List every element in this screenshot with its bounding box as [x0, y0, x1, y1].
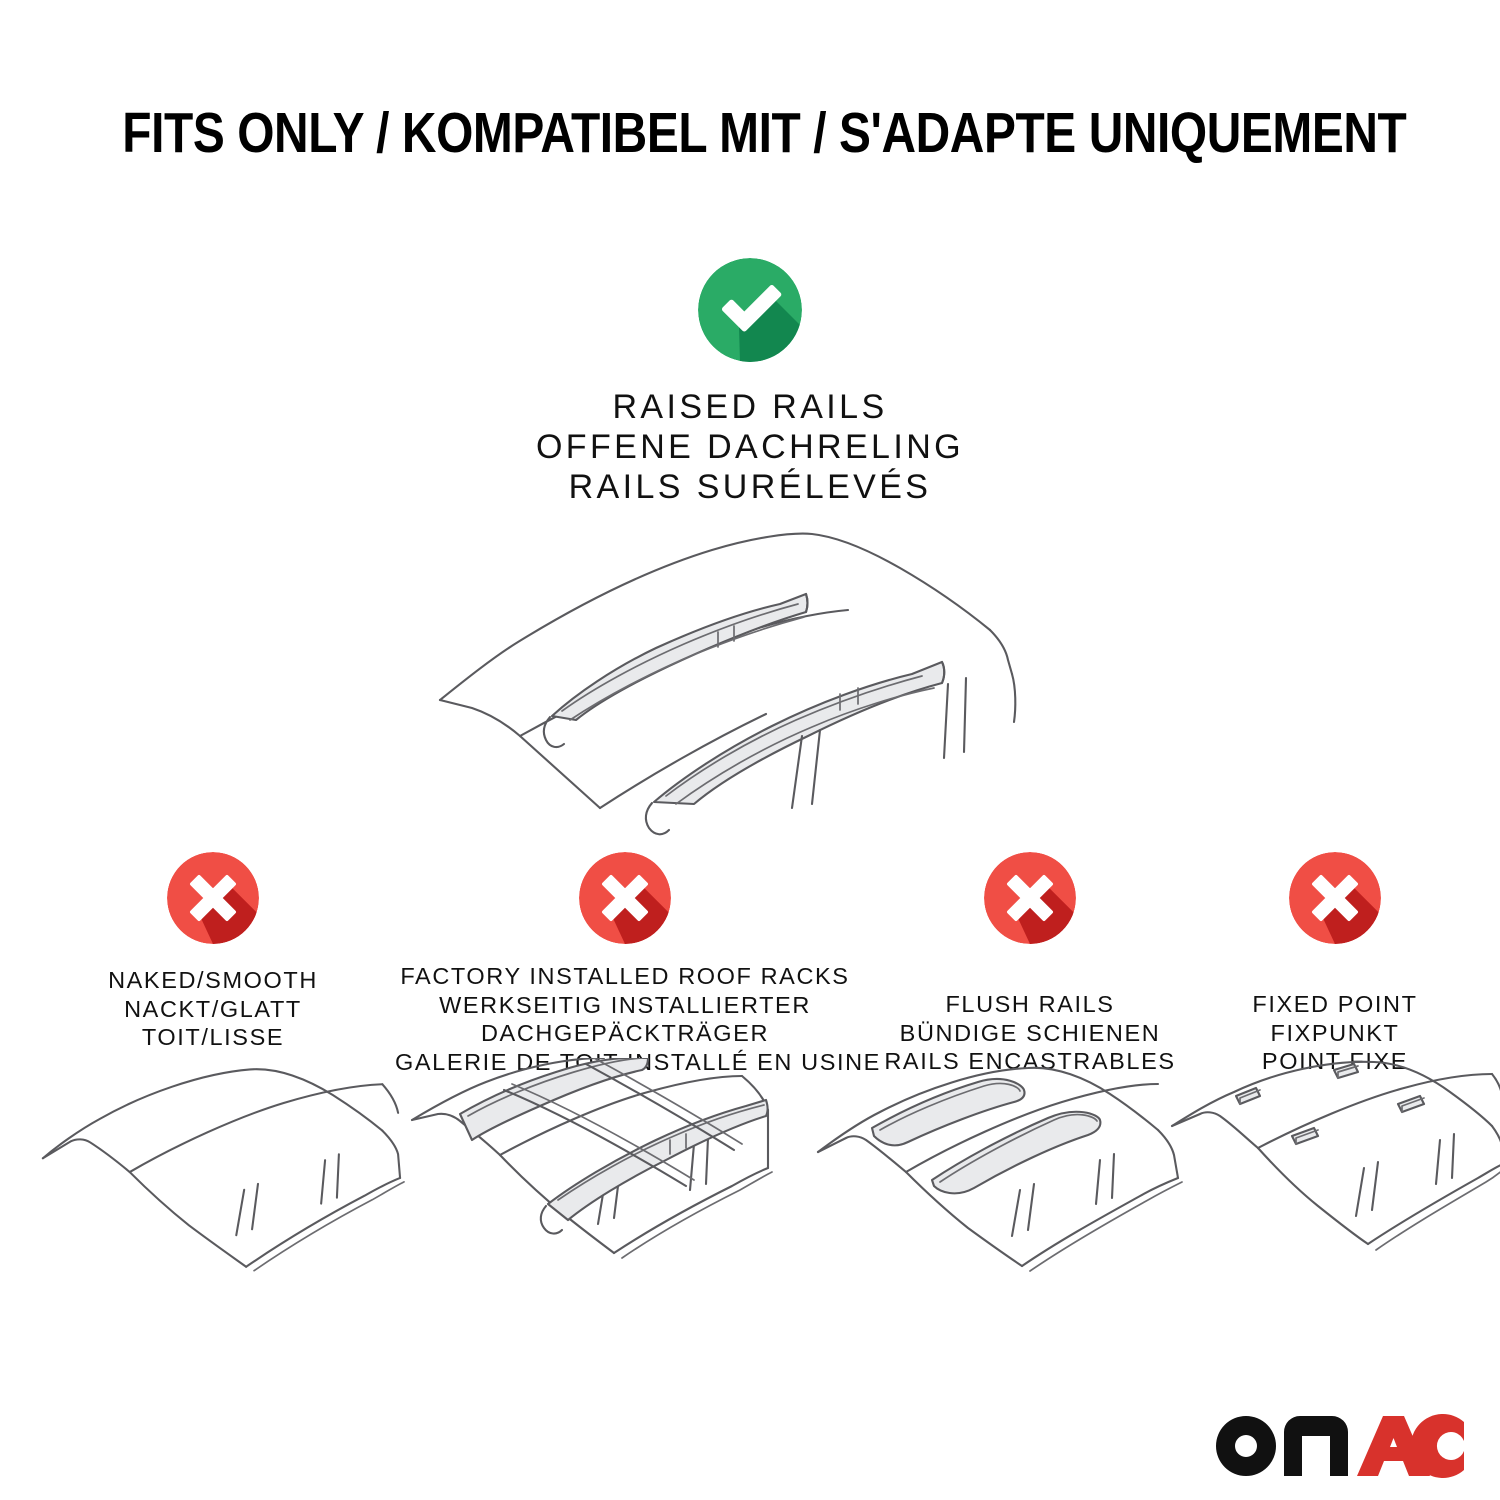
incompatible-item-naked-smooth: NAKED/SMOOTH NACKT/GLATT TOIT/LISSE	[13, 852, 413, 1052]
incompatible-line-en: FIXED POINT	[1200, 990, 1470, 1019]
check-circle-icon	[698, 258, 802, 362]
incompatible-line-en: FLUSH RAILS	[845, 990, 1215, 1019]
incompatible-line-de-2: DACHGEPÄCKTRÄGER	[395, 1019, 855, 1048]
compatible-line-de: OFFENE DACHRELING	[0, 427, 1500, 467]
omac-logo	[1214, 1416, 1464, 1478]
page-header: FITS ONLY / KOMPATIBEL MIT / S'ADAPTE UN…	[0, 104, 1500, 164]
badge-row	[13, 852, 413, 954]
incompatible-line-de-1: WERKSEITIG INSTALLIERTER	[395, 991, 855, 1020]
car-roof-raised-rails-illustration	[400, 508, 1100, 838]
incompatible-line-de: FIXPUNKT	[1200, 1019, 1470, 1048]
car-roof-factory-racks-illustration	[398, 1058, 773, 1293]
incompatible-line-de: NACKT/GLATT	[13, 995, 413, 1024]
x-circle-icon	[984, 852, 1076, 944]
incompatible-line-fr: TOIT/LISSE	[13, 1023, 413, 1052]
compatible-line-fr: RAILS SURÉLEVÉS	[0, 467, 1500, 507]
car-roof-naked-smooth-illustration	[35, 1058, 405, 1293]
x-circle-icon	[579, 852, 671, 944]
incompatible-caption: NAKED/SMOOTH NACKT/GLATT TOIT/LISSE	[13, 966, 413, 1052]
badge-row	[845, 852, 1215, 954]
compatible-line-en: RAISED RAILS	[0, 387, 1500, 427]
car-roof-fixed-point-illustration	[1158, 1058, 1500, 1293]
x-circle-icon	[167, 852, 259, 944]
x-circle-icon	[1289, 852, 1381, 944]
logo-letter-m	[1284, 1416, 1348, 1476]
badge-row	[395, 852, 855, 954]
logo-letter-o	[1216, 1416, 1276, 1476]
incompatible-line-en: NAKED/SMOOTH	[13, 966, 413, 995]
compatible-section: RAISED RAILS OFFENE DACHRELING RAILS SUR…	[0, 258, 1500, 507]
incompatible-line-de: BÜNDIGE SCHIENEN	[845, 1019, 1215, 1048]
incompatible-item-factory-roof-racks: FACTORY INSTALLED ROOF RACKS WERKSEITIG …	[395, 852, 855, 1076]
incompatible-item-flush-rails: FLUSH RAILS BÜNDIGE SCHIENEN RAILS ENCAS…	[845, 852, 1215, 1076]
badge-row	[1200, 852, 1470, 954]
incompatible-item-fixed-point: FIXED POINT FIXPUNKT POINT FIXE	[1200, 852, 1470, 1076]
page-title: FITS ONLY / KOMPATIBEL MIT / S'ADAPTE UN…	[122, 104, 1406, 164]
incompatible-line-en: FACTORY INSTALLED ROOF RACKS	[395, 962, 855, 991]
compatible-caption: RAISED RAILS OFFENE DACHRELING RAILS SUR…	[0, 387, 1500, 507]
car-roof-flush-rails-illustration	[808, 1058, 1183, 1293]
